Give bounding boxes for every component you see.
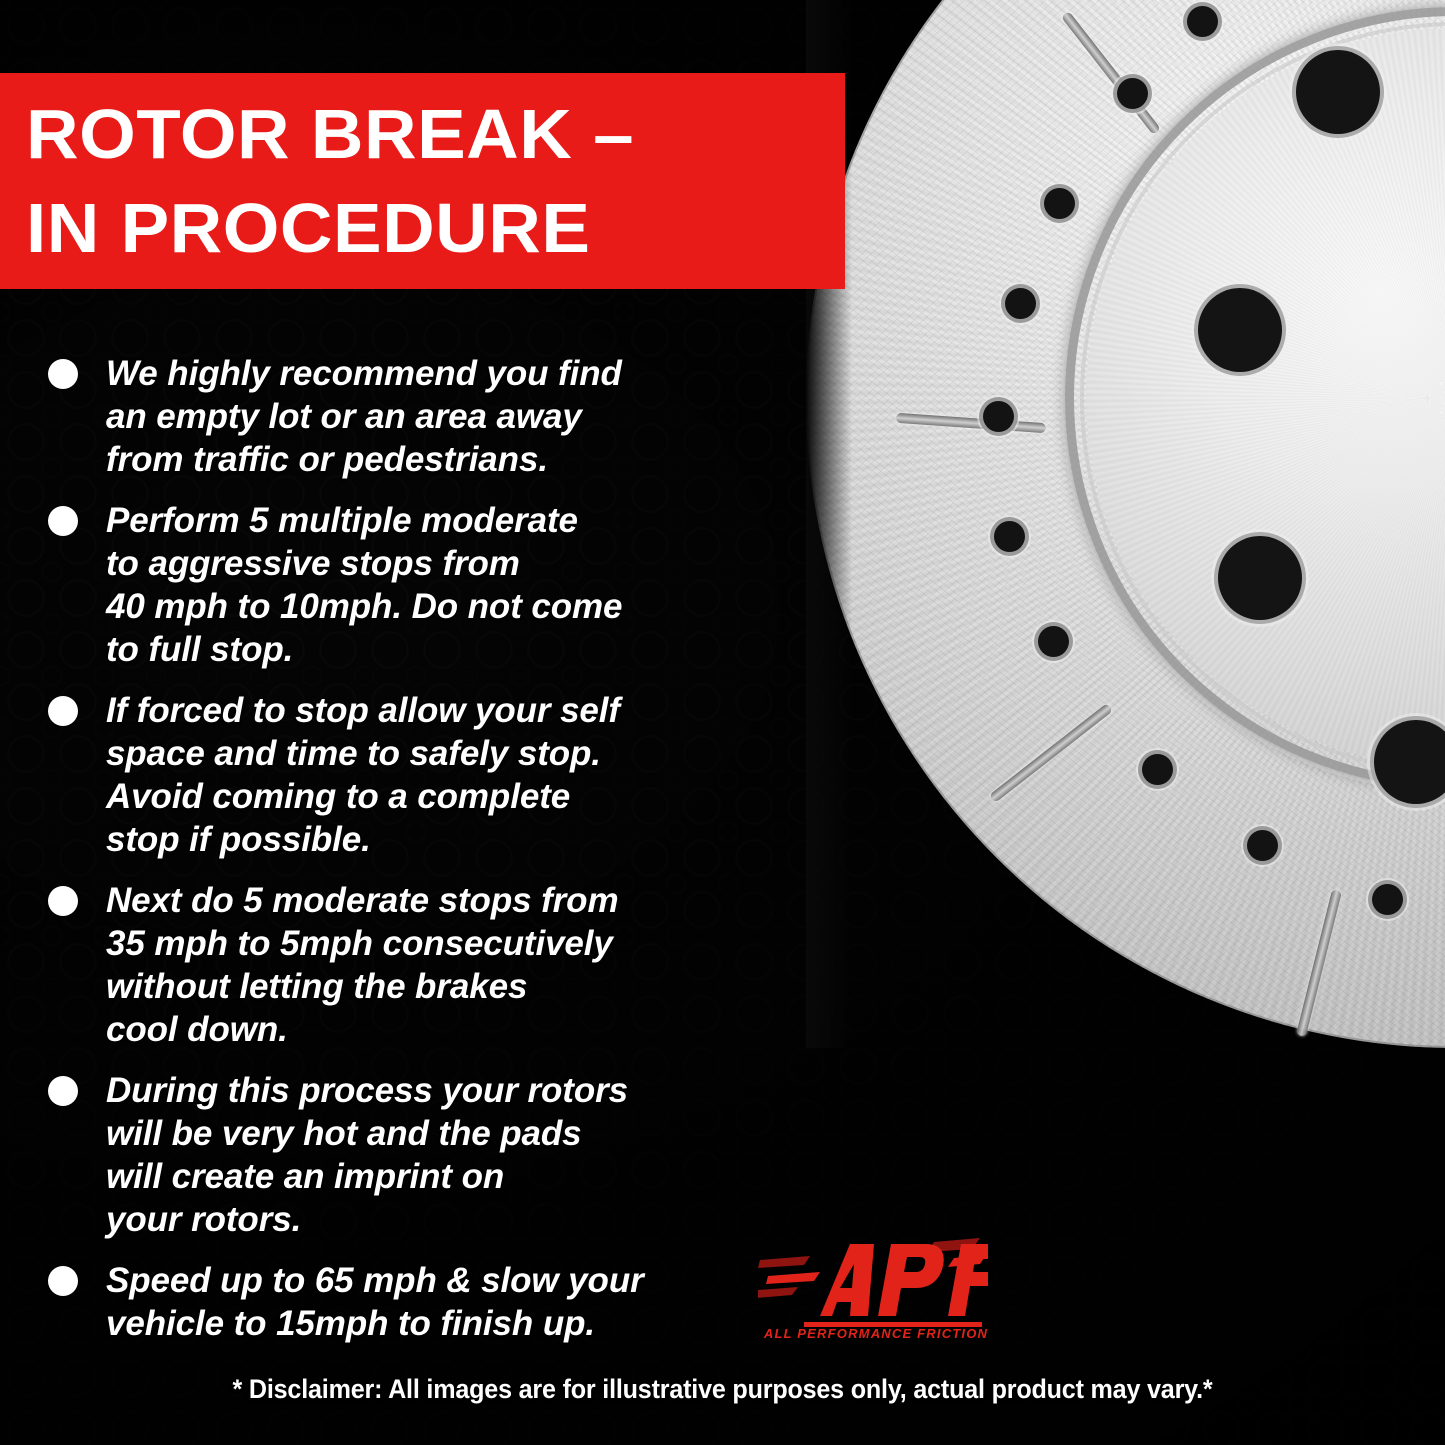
list-item: We highly recommend you find an empty lo… — [48, 352, 768, 481]
instruction-list: We highly recommend you find an empty lo… — [48, 352, 768, 1363]
page-title-line-2: IN PROCEDURE — [26, 181, 878, 275]
list-item-text: During this process your rotors will be … — [106, 1069, 628, 1241]
page-title-line-1: ROTOR BREAK – — [26, 87, 878, 181]
list-item: Perform 5 multiple moderate to aggressiv… — [48, 499, 768, 671]
disclaimer-text: * Disclaimer: All images are for illustr… — [51, 1374, 1395, 1405]
list-item: Next do 5 moderate stops from 35 mph to … — [48, 879, 768, 1051]
bullet-dot-icon — [48, 1266, 78, 1296]
list-item-text: We highly recommend you find an empty lo… — [106, 352, 622, 481]
list-item-text: If forced to stop allow your self space … — [106, 689, 620, 861]
list-item: If forced to stop allow your self space … — [48, 689, 768, 861]
bullet-dot-icon — [48, 506, 78, 536]
list-item: During this process your rotors will be … — [48, 1069, 768, 1241]
logo-tagline: ALL PERFORMANCE FRICTION — [763, 1326, 988, 1340]
bullet-dot-icon — [48, 696, 78, 726]
list-item-text: Perform 5 multiple moderate to aggressiv… — [106, 499, 622, 671]
infographic-page: ROTOR BREAK – IN PROCEDURE We highly rec… — [0, 0, 1445, 1445]
bullet-dot-icon — [48, 1076, 78, 1106]
bullet-dot-icon — [48, 359, 78, 389]
title-banner: ROTOR BREAK – IN PROCEDURE — [0, 73, 845, 289]
list-item-text: Next do 5 moderate stops from 35 mph to … — [106, 879, 618, 1051]
logo-wordmark — [820, 1244, 988, 1316]
bullet-dot-icon — [48, 886, 78, 916]
apf-logo: ALL PERFORMANCE FRICTION — [758, 1232, 988, 1340]
list-item-text: Speed up to 65 mph & slow your vehicle t… — [106, 1259, 644, 1345]
list-item: Speed up to 65 mph & slow your vehicle t… — [48, 1259, 768, 1345]
